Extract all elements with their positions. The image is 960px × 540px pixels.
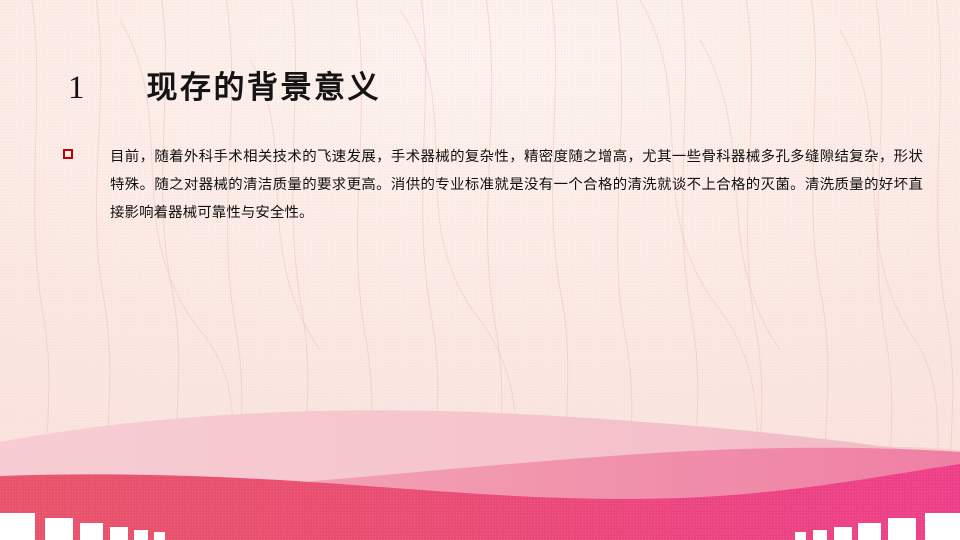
decorative-square <box>888 518 916 540</box>
decorative-square <box>0 513 35 540</box>
decorative-square <box>134 530 148 540</box>
decorative-square <box>795 532 806 540</box>
title-number: 1 <box>68 72 85 105</box>
decorative-square-strip <box>0 480 960 540</box>
decorative-square <box>45 518 73 540</box>
content-block: 目前，随着外科手术相关技术的飞速发展，手术器械的复杂性，精密度随之增高，尤其一些… <box>63 143 923 227</box>
decorative-square <box>925 513 960 540</box>
decorative-square <box>110 527 128 540</box>
decorative-square <box>154 532 165 540</box>
page-title: 现存的背景意义 <box>147 73 382 104</box>
decorative-square <box>80 523 103 540</box>
slide-canvas: 1 现存的背景意义 目前，随着外科手术相关技术的飞速发展，手术器械的复杂性，精密… <box>0 0 960 540</box>
hollow-square-bullet-icon <box>63 149 73 159</box>
body-paragraph: 目前，随着外科手术相关技术的飞速发展，手术器械的复杂性，精密度随之增高，尤其一些… <box>110 143 923 227</box>
slide-title: 1 现存的背景意义 <box>68 72 381 105</box>
decorative-square <box>858 523 881 540</box>
decorative-square <box>813 530 827 540</box>
decorative-square <box>834 527 852 540</box>
